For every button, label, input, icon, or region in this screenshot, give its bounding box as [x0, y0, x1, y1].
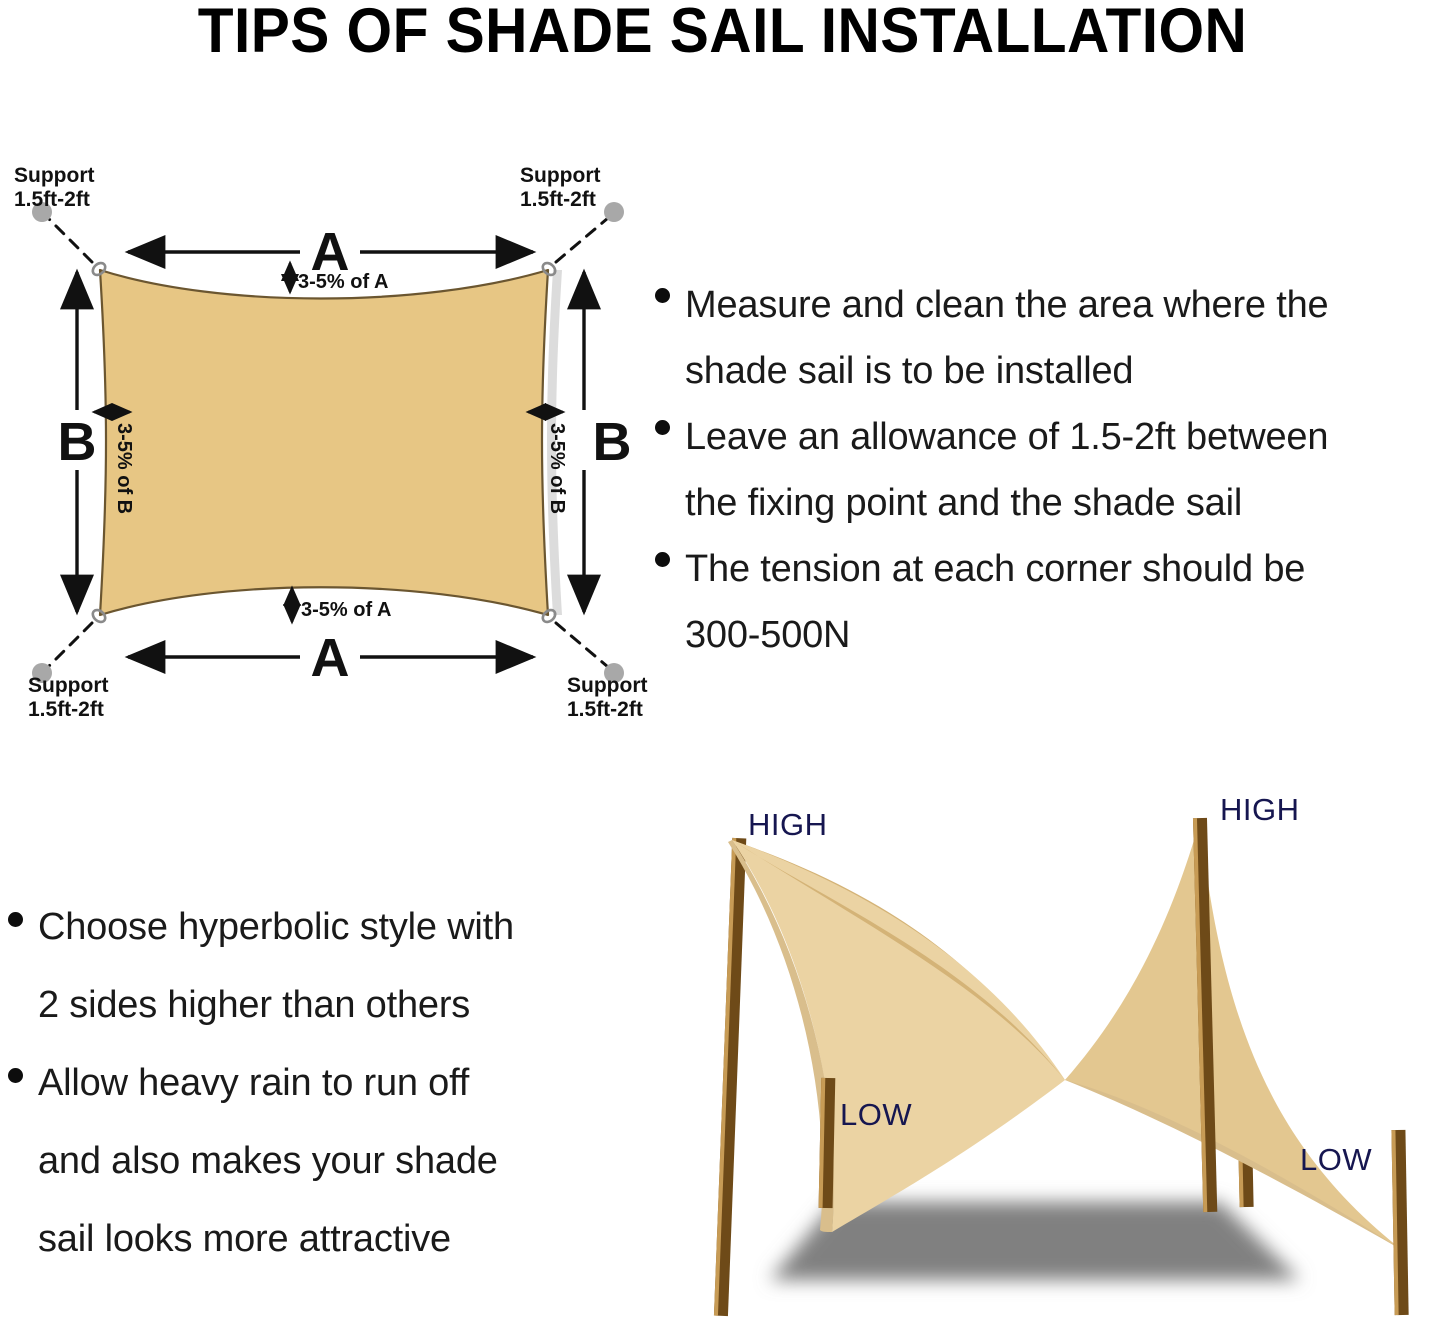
- curvature-note-bottom: 3-5% of A: [292, 588, 391, 622]
- label-low-left: LOW: [840, 1097, 912, 1132]
- label-low-right: LOW: [1300, 1142, 1372, 1177]
- svg-text:1.5ft-2ft: 1.5ft-2ft: [28, 698, 104, 721]
- hyperbolic-shade-sail-illustration: HIGH HIGH LOW LOW: [660, 780, 1445, 1319]
- list-item-continuation: 2 sides higher than others: [0, 966, 640, 1044]
- bullet-spacer: [8, 1224, 23, 1239]
- bullet-dot-icon: [655, 420, 670, 435]
- list-item-continuation: shade sail is to be installed: [655, 338, 1445, 404]
- infographic-canvas: TIPS OF SHADE SAIL INSTALLATION: [0, 0, 1445, 1319]
- svg-text:B: B: [593, 412, 632, 472]
- list-item-label: Allow heavy rain to run off: [38, 1044, 469, 1122]
- sail-shape: [100, 270, 562, 615]
- list-item: Allow heavy rain to run off: [0, 1044, 640, 1122]
- list-item-label: the fixing point and the shade sail: [685, 470, 1242, 536]
- bullet-spacer: [655, 354, 670, 369]
- bullet-dot-icon: [655, 552, 670, 567]
- list-item-continuation: sail looks more attractive: [0, 1200, 640, 1278]
- installation-tips-list-left: Choose hyperbolic style with 2 sides hig…: [0, 888, 640, 1278]
- support-top-right-label: Support: [520, 164, 600, 187]
- svg-text:B: B: [58, 412, 97, 472]
- list-item: Measure and clean the area where the: [655, 272, 1445, 338]
- svg-text:A: A: [311, 628, 350, 688]
- page-title: TIPS OF SHADE SAIL INSTALLATION: [51, 0, 1395, 64]
- svg-text:1.5ft-2ft: 1.5ft-2ft: [567, 698, 643, 721]
- list-item-continuation: 300-500N: [655, 602, 1445, 668]
- dimension-a-bottom: A: [128, 628, 533, 688]
- svg-text:3-5% of A: 3-5% of A: [298, 271, 388, 293]
- bullet-dot-icon: [8, 912, 23, 927]
- bullet-spacer: [655, 618, 670, 633]
- curvature-note-left: 3-5% of B: [94, 412, 135, 514]
- list-item-label: The tension at each corner should be: [685, 536, 1305, 602]
- svg-text:3-5% of A: 3-5% of A: [301, 599, 391, 621]
- list-item-label: and also makes your shade: [38, 1122, 498, 1200]
- list-item: Leave an allowance of 1.5-2ft between: [655, 404, 1445, 470]
- bullet-spacer: [8, 1146, 23, 1161]
- bullet-spacer: [8, 990, 23, 1005]
- dimension-b-left: B: [58, 272, 97, 612]
- list-item-continuation: the fixing point and the shade sail: [655, 470, 1445, 536]
- label-high-right: HIGH: [1220, 792, 1300, 827]
- list-item-label: Choose hyperbolic style with: [38, 888, 514, 966]
- bullet-dot-icon: [655, 288, 670, 303]
- list-item-label: sail looks more attractive: [38, 1200, 451, 1278]
- list-item-label: Leave an allowance of 1.5-2ft between: [685, 404, 1328, 470]
- list-item-label: Measure and clean the area where the: [685, 272, 1328, 338]
- bullet-dot-icon: [8, 1068, 23, 1083]
- label-high-left: HIGH: [748, 807, 828, 842]
- support-top-left-label: Support: [14, 164, 94, 187]
- svg-text:1.5ft-2ft: 1.5ft-2ft: [520, 188, 596, 211]
- installation-tips-list-right: Measure and clean the area where the sha…: [655, 272, 1445, 668]
- sail-panel-left: [728, 840, 1065, 1232]
- list-item-label: 300-500N: [685, 602, 850, 668]
- support-bottom-left-label: Support: [28, 674, 108, 697]
- rectangle-shade-sail-dimension-diagram: Support 1.5ft-2ft Support 1.5ft-2ft Supp…: [0, 160, 660, 730]
- dimension-b-right: B: [584, 272, 632, 612]
- bullet-spacer: [655, 486, 670, 501]
- list-item-continuation: and also makes your shade: [0, 1122, 640, 1200]
- svg-text:1.5ft-2ft: 1.5ft-2ft: [14, 188, 90, 211]
- svg-text:3-5% of B: 3-5% of B: [113, 423, 135, 514]
- list-item: The tension at each corner should be: [655, 536, 1445, 602]
- list-item-label: shade sail is to be installed: [685, 338, 1133, 404]
- svg-text:3-5% of B: 3-5% of B: [546, 423, 568, 514]
- list-item: Choose hyperbolic style with: [0, 888, 640, 966]
- support-bottom-right-label: Support: [567, 674, 647, 697]
- list-item-label: 2 sides higher than others: [38, 966, 470, 1044]
